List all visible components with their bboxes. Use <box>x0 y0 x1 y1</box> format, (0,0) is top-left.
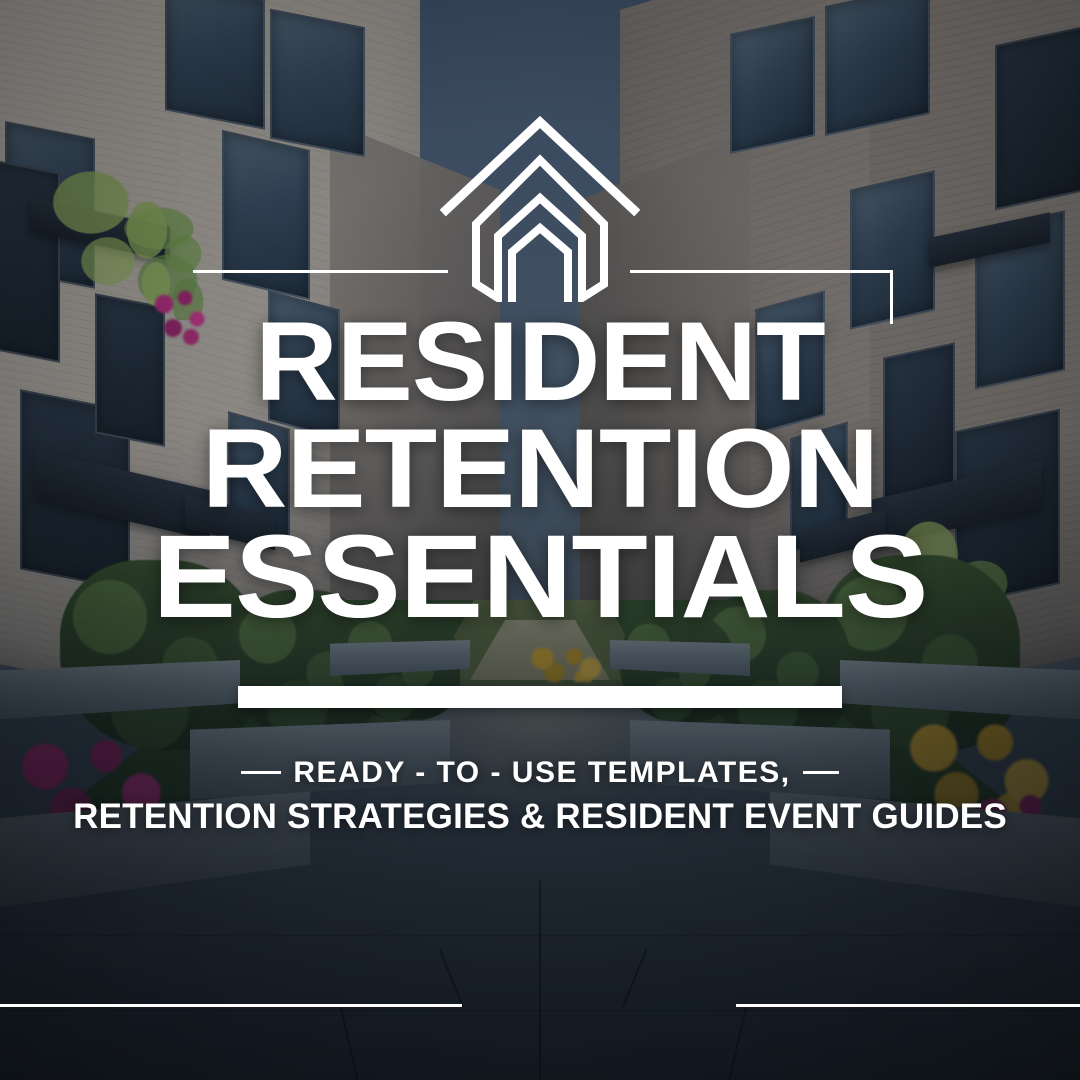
house-outline-icon <box>440 112 640 302</box>
title-line-1: RESIDENT <box>0 312 1080 413</box>
logo-rule-right <box>630 270 893 273</box>
bottom-rule-right <box>736 1004 1080 1007</box>
title-line-3: ESSENTIALS <box>0 524 1080 630</box>
title-line-2: RETENTION <box>0 419 1080 520</box>
subtitle-line-2: RETENTION STRATEGIES & RESIDENT EVENT GU… <box>0 797 1080 837</box>
subtitle-line-1-text: READY - TO - USE TEMPLATES, <box>293 756 790 790</box>
poster-content: RESIDENT RETENTION ESSENTIALS READY - TO… <box>0 0 1080 1080</box>
subtitle-dash-left-icon <box>241 771 281 774</box>
house-outline-logo <box>440 112 640 302</box>
subtitle-line-1-row: READY - TO - USE TEMPLATES, <box>241 756 838 790</box>
subtitle-line-1: READY - TO - USE TEMPLATES, <box>0 748 1080 790</box>
page-title: RESIDENT RETENTION ESSENTIALS <box>0 312 1080 630</box>
bottom-rule-left <box>0 1004 462 1007</box>
divider-bar <box>238 686 842 708</box>
subtitle-dash-right-icon <box>803 771 839 774</box>
logo-rule-left <box>193 270 448 273</box>
promotional-poster: RESIDENT RETENTION ESSENTIALS READY - TO… <box>0 0 1080 1080</box>
